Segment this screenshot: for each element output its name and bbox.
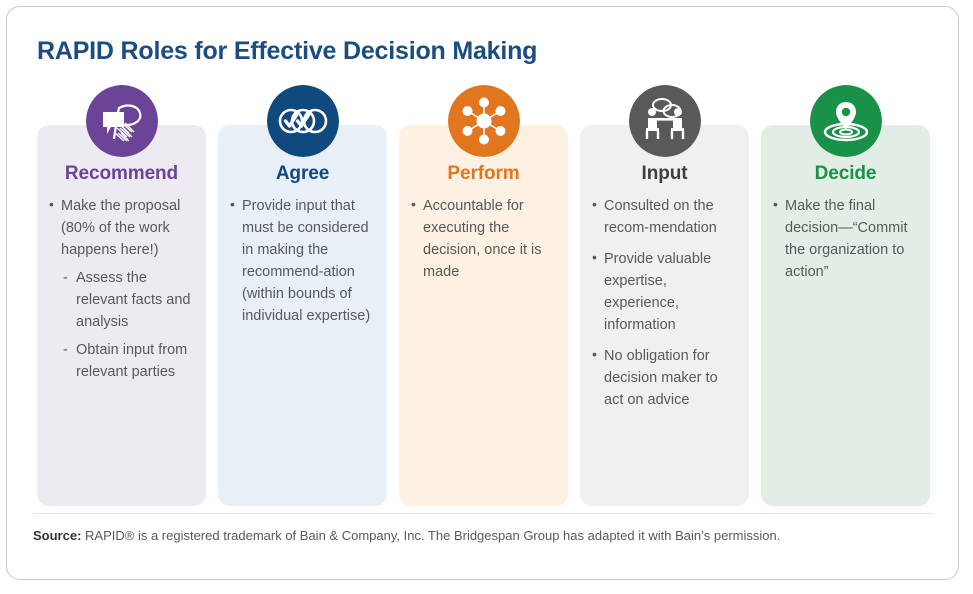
infographic-card: RAPID Roles for Effective Decision Makin… — [6, 6, 959, 580]
bullet-text: Accountable for executing the decision, … — [423, 195, 558, 283]
list-item: No obligation for decision maker to act … — [590, 345, 739, 411]
list-item: Make the final decision—“Commit the orga… — [771, 195, 920, 283]
role-column-perform: Perform Accountable for executing the de… — [399, 85, 568, 510]
role-content-recommend: Recommend Make the proposal (80% of the … — [37, 163, 206, 392]
role-title-perform: Perform — [409, 163, 558, 185]
bullet-text: Provide valuable expertise, experience, … — [604, 248, 739, 336]
role-content-perform: Perform Accountable for executing the de… — [399, 163, 568, 292]
source-note: Source: RAPID® is a registered trademark… — [33, 525, 934, 546]
role-bullets-agree: Provide input that must be considered in… — [228, 195, 377, 327]
footer-divider — [33, 513, 934, 514]
role-column-decide: Decide Make the final decision—“Commit t… — [761, 85, 930, 510]
bullet-text: Make the final decision—“Commit the orga… — [785, 195, 920, 283]
role-title-agree: Agree — [228, 163, 377, 185]
source-label: Source: — [33, 528, 81, 543]
list-item: Make the proposal (80% of the work happe… — [47, 195, 196, 383]
list-item: Assess the relevant facts and analysis — [61, 267, 196, 333]
role-bullets-input: Consulted on the recom-mendation Provide… — [590, 195, 739, 411]
list-item: Provide valuable expertise, experience, … — [590, 248, 739, 336]
list-item: Consulted on the recom-mendation — [590, 195, 739, 239]
two-people-conversation-icon — [629, 85, 701, 157]
role-content-agree: Agree Provide input that must be conside… — [218, 163, 387, 336]
role-content-input: Input Consulted on the recom-mendation P… — [580, 163, 749, 420]
list-item: Provide input that must be considered in… — [228, 195, 377, 327]
role-bullets-decide: Make the final decision—“Commit the orga… — [771, 195, 920, 283]
role-content-decide: Decide Make the final decision—“Commit t… — [761, 163, 930, 292]
location-pin-ripple-icon — [810, 85, 882, 157]
source-text: RAPID® is a registered trademark of Bain… — [81, 528, 780, 543]
network-hub-nodes-icon — [448, 85, 520, 157]
bullet-text: Make the proposal (80% of the work happe… — [61, 195, 196, 261]
list-item: Accountable for executing the decision, … — [409, 195, 558, 283]
role-title-recommend: Recommend — [47, 163, 196, 185]
role-column-agree: Agree Provide input that must be conside… — [218, 85, 387, 510]
list-item: Obtain input from relevant parties — [61, 339, 196, 383]
megaphone-speech-bubble-icon — [86, 85, 158, 157]
sub-bullets: Assess the relevant facts and analysis O… — [61, 267, 196, 383]
role-title-input: Input — [590, 163, 739, 185]
role-bullets-recommend: Make the proposal (80% of the work happe… — [47, 195, 196, 383]
bullet-text: No obligation for decision maker to act … — [604, 345, 739, 411]
role-title-decide: Decide — [771, 163, 920, 185]
triple-checkmark-circles-icon — [267, 85, 339, 157]
rapid-roles-columns: Recommend Make the proposal (80% of the … — [37, 85, 930, 510]
role-column-input: Input Consulted on the recom-mendation P… — [580, 85, 749, 510]
bullet-text: Consulted on the recom-mendation — [604, 195, 739, 239]
role-column-recommend: Recommend Make the proposal (80% of the … — [37, 85, 206, 510]
page-title: RAPID Roles for Effective Decision Makin… — [37, 37, 537, 66]
bullet-text: Provide input that must be considered in… — [242, 195, 377, 327]
role-bullets-perform: Accountable for executing the decision, … — [409, 195, 558, 283]
